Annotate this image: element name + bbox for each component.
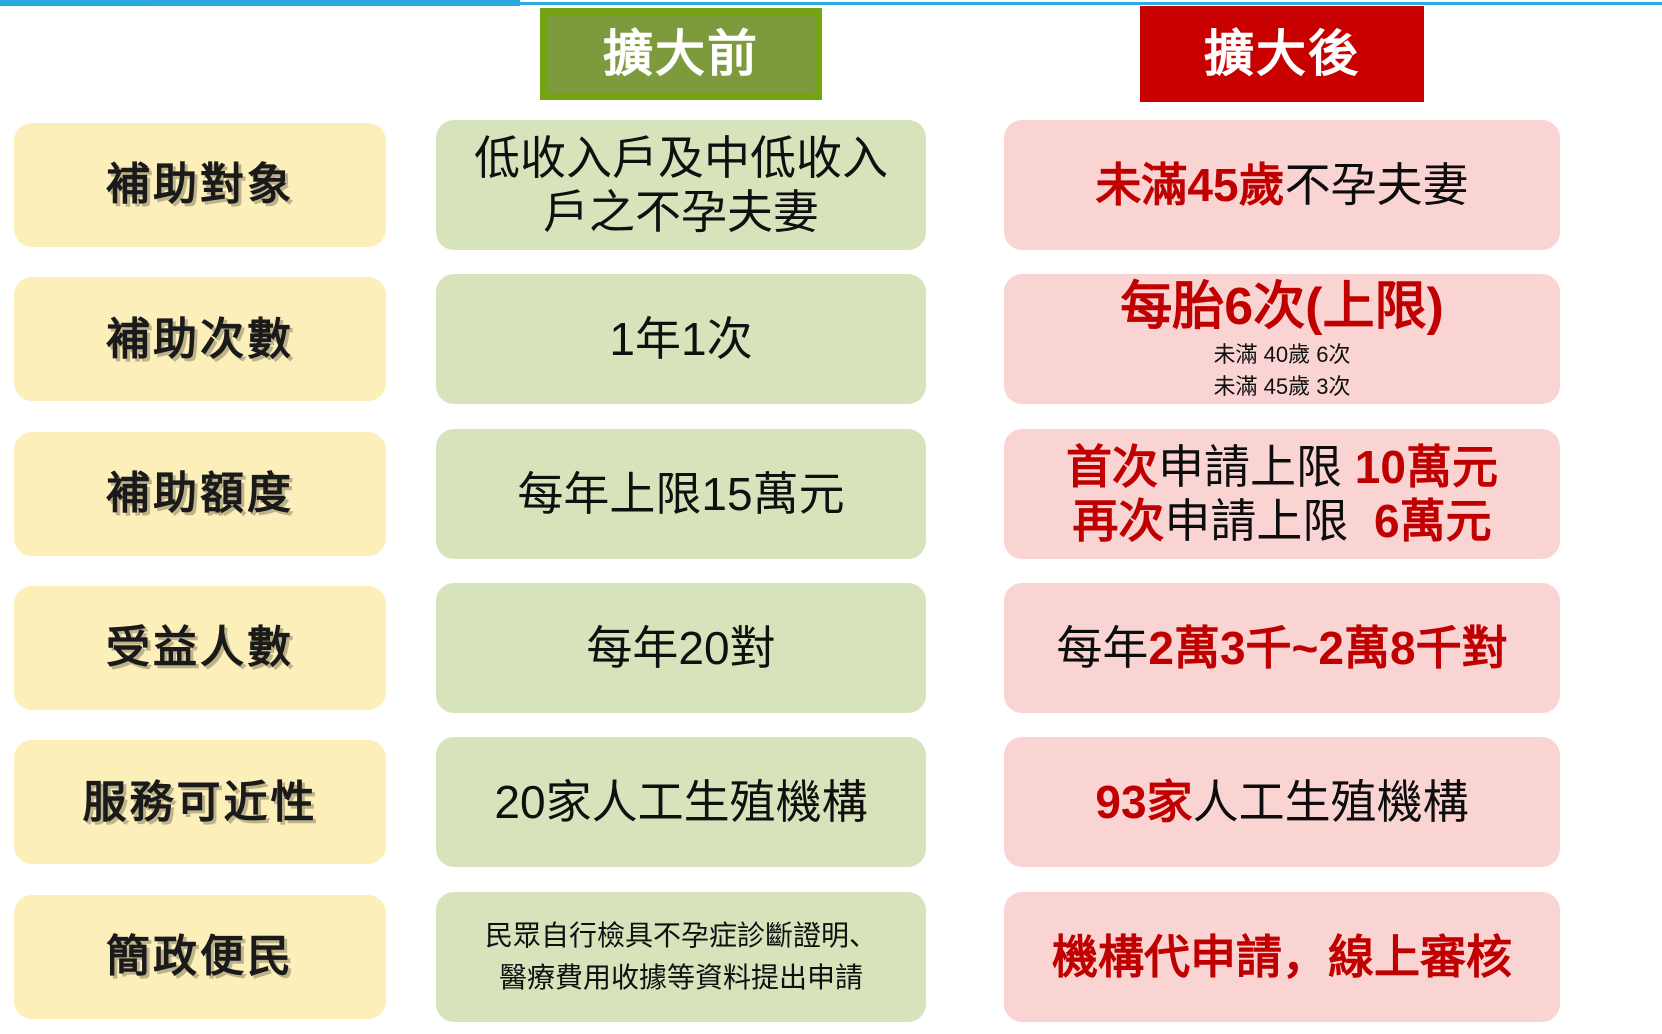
after-highlight-5: 機構代申請，線上審核 — [1052, 930, 1512, 984]
row-after-0: 未滿45歲不孕夫妻 — [1004, 120, 1560, 250]
row-after-4: 93家人工生殖機構 — [1004, 737, 1560, 867]
before-line-2: 醫療費用收據等資料提出申請 — [485, 957, 877, 999]
after-text-4: 人工生殖機構 — [1193, 776, 1469, 828]
before-line-1: 低收入戶及中低收入 — [474, 131, 888, 185]
row-before-3: 每年20對 — [436, 583, 926, 713]
after-repeat-apply-tag: 再次 — [1072, 495, 1164, 547]
column-header-before-label: 擴大前 — [603, 29, 759, 79]
column-header-before: 擴大前 — [540, 8, 822, 100]
after-repeat-apply-text: 申請上限 — [1164, 495, 1348, 547]
row-label-5: 簡政便民 — [14, 895, 386, 1019]
after-highlight-3: 2萬3千~2萬8千對 — [1148, 622, 1507, 674]
after-text-3: 每年 — [1056, 622, 1148, 674]
after-first-apply-amount: 10萬元 — [1355, 441, 1498, 493]
after-highlight-4: 93家 — [1095, 776, 1192, 828]
row-after-1: 每胎6次(上限) 未滿 40歲 6次 未滿 45歲 3次 — [1004, 274, 1560, 404]
row-before-4: 20家人工生殖機構 — [436, 737, 926, 867]
before-line-1: 1年1次 — [609, 312, 752, 366]
before-line-1: 每年20對 — [586, 621, 775, 675]
after-highlight-0: 未滿45歲 — [1095, 159, 1284, 211]
after-first-apply-text: 申請上限 — [1158, 441, 1342, 493]
row-label-2: 補助額度 — [14, 432, 386, 556]
after-subnote-1b: 未滿 45歲 3次 — [1214, 372, 1351, 402]
before-line-1: 每年上限15萬元 — [517, 467, 844, 521]
row-label-3: 受益人數 — [14, 586, 386, 710]
after-subnote-1a: 未滿 40歲 6次 — [1214, 340, 1351, 370]
after-highlight-1: 每胎6次(上限) — [1120, 277, 1444, 338]
comparison-table: 擴大前 擴大後 補助對象 低收入戶及中低收入 戶之不孕夫妻 未滿45歲不孕夫妻 … — [0, 0, 1662, 1034]
row-after-5: 機構代申請，線上審核 — [1004, 892, 1560, 1022]
before-line-1: 20家人工生殖機構 — [494, 775, 867, 829]
row-label-0: 補助對象 — [14, 123, 386, 247]
after-first-apply-tag: 首次 — [1066, 441, 1158, 493]
after-text-0: 不孕夫妻 — [1285, 159, 1469, 211]
row-before-1: 1年1次 — [436, 274, 926, 404]
before-line-2: 戶之不孕夫妻 — [474, 185, 888, 239]
row-label-1: 補助次數 — [14, 277, 386, 401]
before-line-1: 民眾自行檢具不孕症診斷證明、 — [485, 915, 877, 957]
row-before-0: 低收入戶及中低收入 戶之不孕夫妻 — [436, 120, 926, 250]
column-header-after-label: 擴大後 — [1204, 29, 1360, 79]
column-header-after: 擴大後 — [1140, 6, 1424, 102]
row-before-5: 民眾自行檢具不孕症診斷證明、 醫療費用收據等資料提出申請 — [436, 892, 926, 1022]
row-after-3: 每年2萬3千~2萬8千對 — [1004, 583, 1560, 713]
row-label-4: 服務可近性 — [14, 740, 386, 864]
row-after-2: 首次申請上限 10萬元 再次申請上限 6萬元 — [1004, 429, 1560, 559]
row-before-2: 每年上限15萬元 — [436, 429, 926, 559]
after-repeat-apply-amount: 6萬元 — [1374, 495, 1492, 547]
